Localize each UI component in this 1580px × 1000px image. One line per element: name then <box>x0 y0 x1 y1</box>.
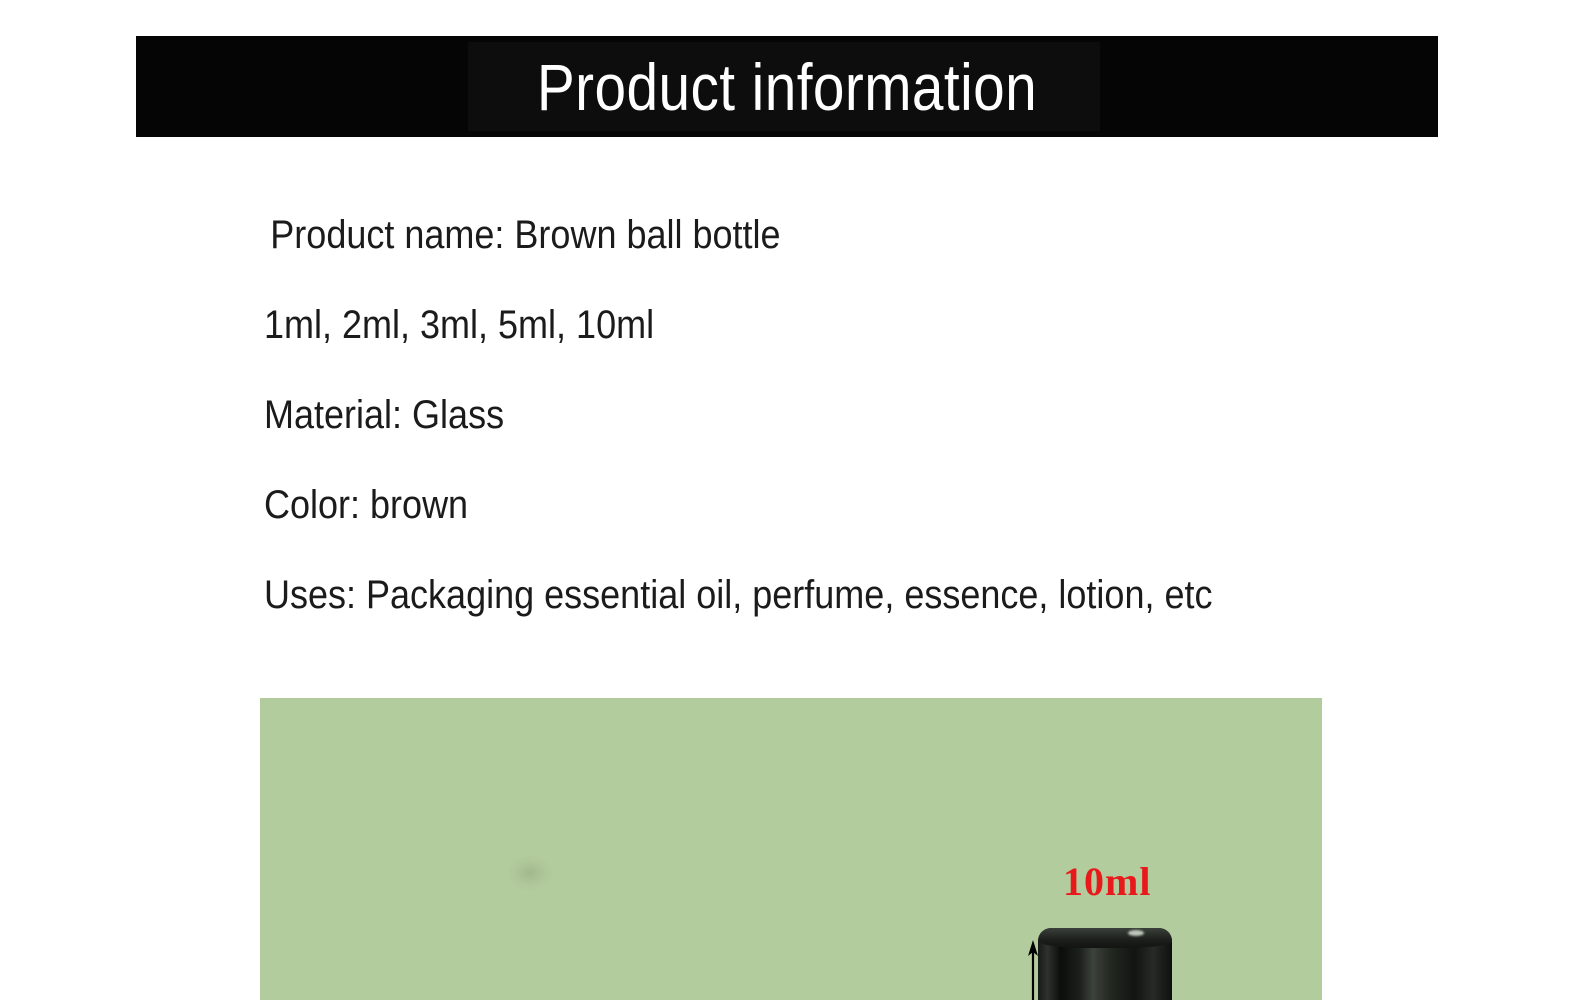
spec-line-material: Material: Glass <box>264 370 1272 460</box>
header-banner: Product information <box>136 36 1438 137</box>
photo-background-smudge <box>508 856 552 890</box>
spec-line-color: Color: brown <box>264 460 1272 550</box>
bottle-cap-top-surface <box>1038 928 1172 948</box>
product-spec-list: Product name: Brown ball bottle 1ml, 2ml… <box>264 190 1384 640</box>
volume-annotation-label: 10ml <box>1063 858 1151 905</box>
bottle-cap <box>1038 928 1172 1000</box>
product-photo: 10ml <box>260 698 1322 1000</box>
spec-line-sizes: 1ml, 2ml, 3ml, 5ml, 10ml <box>264 280 1272 370</box>
spec-line-uses: Uses: Packaging essential oil, perfume, … <box>264 550 1272 640</box>
spec-line-product-name: Product name: Brown ball bottle <box>264 190 1272 280</box>
page-title: Product information <box>227 36 1347 137</box>
bottle-cap-highlight <box>1128 930 1144 936</box>
